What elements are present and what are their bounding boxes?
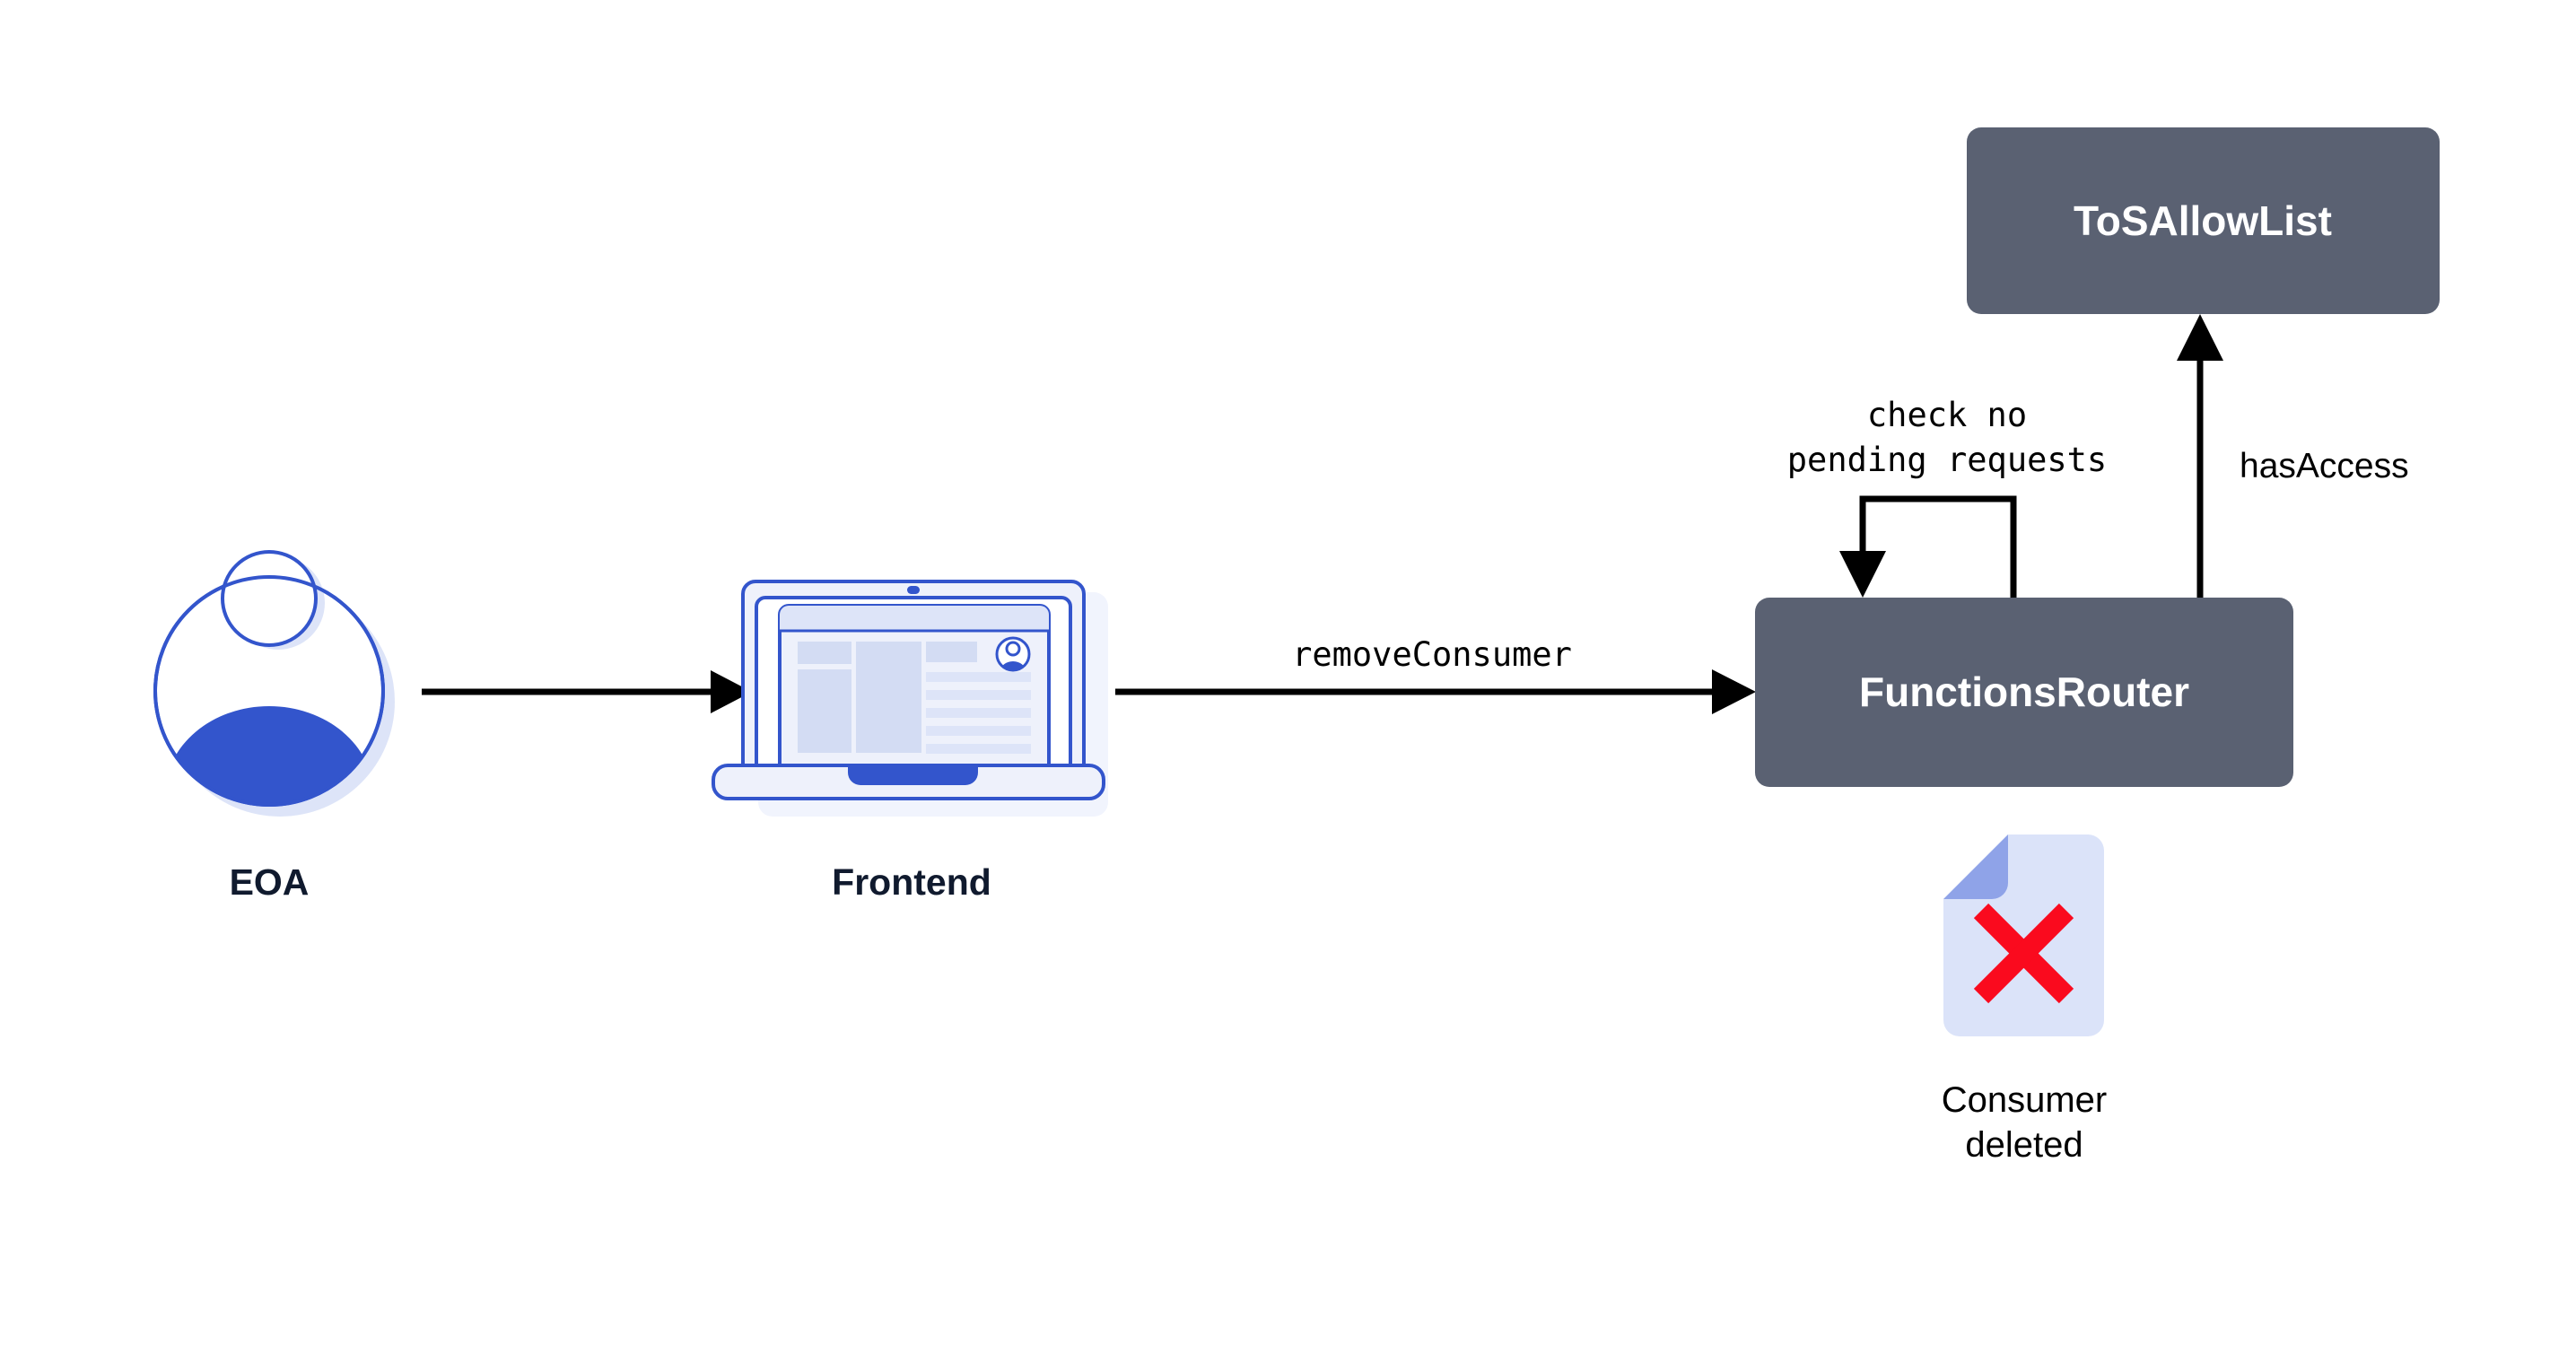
document-fold-corner-icon (1943, 834, 2008, 899)
edge-label-check-no-line2: pending requests (1787, 441, 2107, 479)
arrow-router-self-loop-path (1863, 499, 2013, 598)
arrow-router-to-tosallowlist (2177, 314, 2223, 598)
laptop-screen-titlebar (780, 606, 1049, 631)
laptop-content-block-2 (798, 669, 851, 753)
tos-allow-list-label: ToSAllowList (2074, 197, 2332, 244)
arrow-router-to-tosallowlist-head (2177, 314, 2223, 361)
arrow-router-self-loop-head (1839, 551, 1886, 598)
laptop-camera-icon (907, 586, 920, 594)
laptop-icon (713, 581, 1108, 817)
laptop-content-line-5 (926, 744, 1031, 754)
diagram-canvas: EOA (0, 0, 2576, 1363)
arrow-frontend-to-router (1115, 669, 1756, 714)
frontend-label: Frontend (832, 861, 991, 903)
laptop-content-block-4 (926, 642, 977, 662)
edge-label-has-access: hasAccess (2240, 447, 2409, 485)
laptop-trackpad-notch (848, 765, 978, 785)
laptop-content-line-2 (926, 690, 1031, 700)
laptop-content-block-1 (798, 642, 851, 664)
laptop-content-line-3 (926, 708, 1031, 718)
functions-router-label: FunctionsRouter (1859, 668, 2189, 715)
arrow-eoa-to-frontend (422, 670, 752, 713)
document-deleted-icon (1943, 834, 2104, 1036)
laptop-content-block-3 (856, 642, 921, 753)
laptop-screen-avatar-head-icon (1007, 642, 1019, 655)
arrow-router-self-loop (1839, 499, 2013, 598)
laptop-content-line-4 (926, 726, 1031, 736)
consumer-deleted-label-line2: deleted (1965, 1125, 2083, 1165)
edge-label-check-no-line1: check no (1867, 396, 2027, 434)
consumer-deleted-label-line1: Consumer (1942, 1080, 2108, 1120)
edge-label-remove-consumer: removeConsumer (1292, 635, 1572, 674)
laptop-content-line-1 (926, 672, 1031, 682)
avatar-head (223, 552, 316, 645)
user-avatar-icon (155, 552, 395, 882)
diagram-svg: EOA (0, 0, 2576, 1363)
document-page (1943, 834, 2104, 1036)
eoa-label: EOA (230, 861, 310, 903)
arrow-frontend-to-router-head (1712, 669, 1756, 714)
